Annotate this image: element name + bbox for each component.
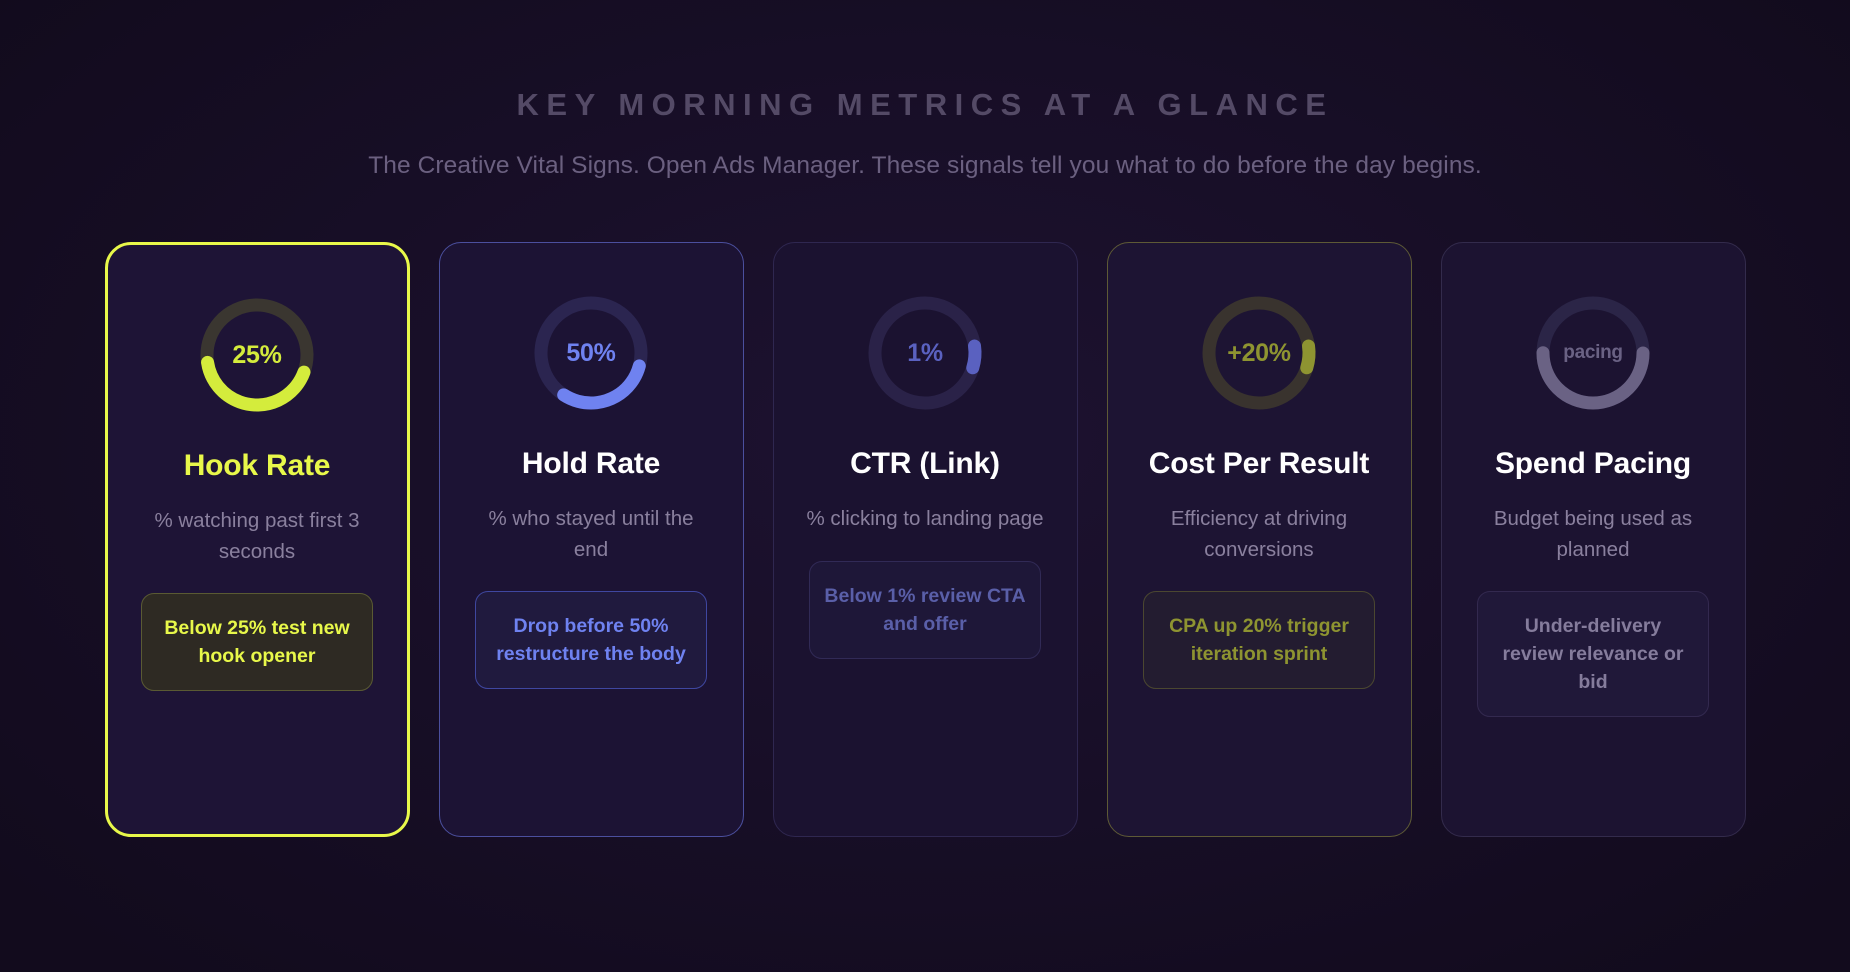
metric-title-hold-rate: Hold Rate xyxy=(522,445,660,482)
metric-card-cost-per-result[interactable]: +20%Cost Per ResultEfficiency at driving… xyxy=(1107,242,1412,837)
metric-card-row: 25%Hook Rate% watching past first 3 seco… xyxy=(0,242,1850,837)
donut-gauge-hook-rate: 25% xyxy=(195,293,319,417)
action-badge-ctr-link[interactable]: Below 1% review CTA and offer xyxy=(809,561,1041,660)
page-header: KEY MORNING METRICS AT A GLANCE The Crea… xyxy=(0,0,1850,182)
metric-description-ctr-link: % clicking to landing page xyxy=(806,504,1043,534)
page-title: KEY MORNING METRICS AT A GLANCE xyxy=(0,86,1850,123)
metric-description-cost-per-result: Efficiency at driving conversions xyxy=(1139,504,1379,564)
donut-gauge-hold-rate: 50% xyxy=(529,291,653,415)
action-badge-hold-rate[interactable]: Drop before 50% restructure the body xyxy=(475,591,707,690)
metric-title-hook-rate: Hook Rate xyxy=(184,447,331,484)
metric-card-ctr-link[interactable]: 1%CTR (Link)% clicking to landing pageBe… xyxy=(773,242,1078,837)
metric-card-hold-rate[interactable]: 50%Hold Rate% who stayed until the endDr… xyxy=(439,242,744,837)
gauge-value-cost-per-result: +20% xyxy=(1227,339,1290,368)
gauge-value-hook-rate: 25% xyxy=(232,341,281,370)
gauge-value-hold-rate: 50% xyxy=(566,339,615,368)
metric-title-ctr-link: CTR (Link) xyxy=(850,445,1000,482)
metric-title-cost-per-result: Cost Per Result xyxy=(1149,445,1369,482)
metric-description-hook-rate: % watching past first 3 seconds xyxy=(137,506,377,566)
gauge-value-spend-pacing: pacing xyxy=(1563,342,1622,364)
metric-card-hook-rate[interactable]: 25%Hook Rate% watching past first 3 seco… xyxy=(105,242,410,837)
donut-gauge-spend-pacing: pacing xyxy=(1531,291,1655,415)
donut-gauge-ctr-link: 1% xyxy=(863,291,987,415)
metric-card-spend-pacing[interactable]: pacingSpend PacingBudget being used as p… xyxy=(1441,242,1746,837)
metric-description-hold-rate: % who stayed until the end xyxy=(471,504,711,564)
gauge-value-ctr-link: 1% xyxy=(907,339,943,368)
metrics-overview-page: KEY MORNING METRICS AT A GLANCE The Crea… xyxy=(0,0,1850,972)
metric-description-spend-pacing: Budget being used as planned xyxy=(1473,504,1713,564)
action-badge-cost-per-result[interactable]: CPA up 20% trigger iteration sprint xyxy=(1143,591,1375,690)
metric-title-spend-pacing: Spend Pacing xyxy=(1495,445,1691,482)
action-badge-spend-pacing[interactable]: Under-delivery review relevance or bid xyxy=(1477,591,1709,718)
page-subtitle: The Creative Vital Signs. Open Ads Manag… xyxy=(0,149,1850,182)
donut-gauge-cost-per-result: +20% xyxy=(1197,291,1321,415)
action-badge-hook-rate[interactable]: Below 25% test new hook opener xyxy=(141,593,373,692)
